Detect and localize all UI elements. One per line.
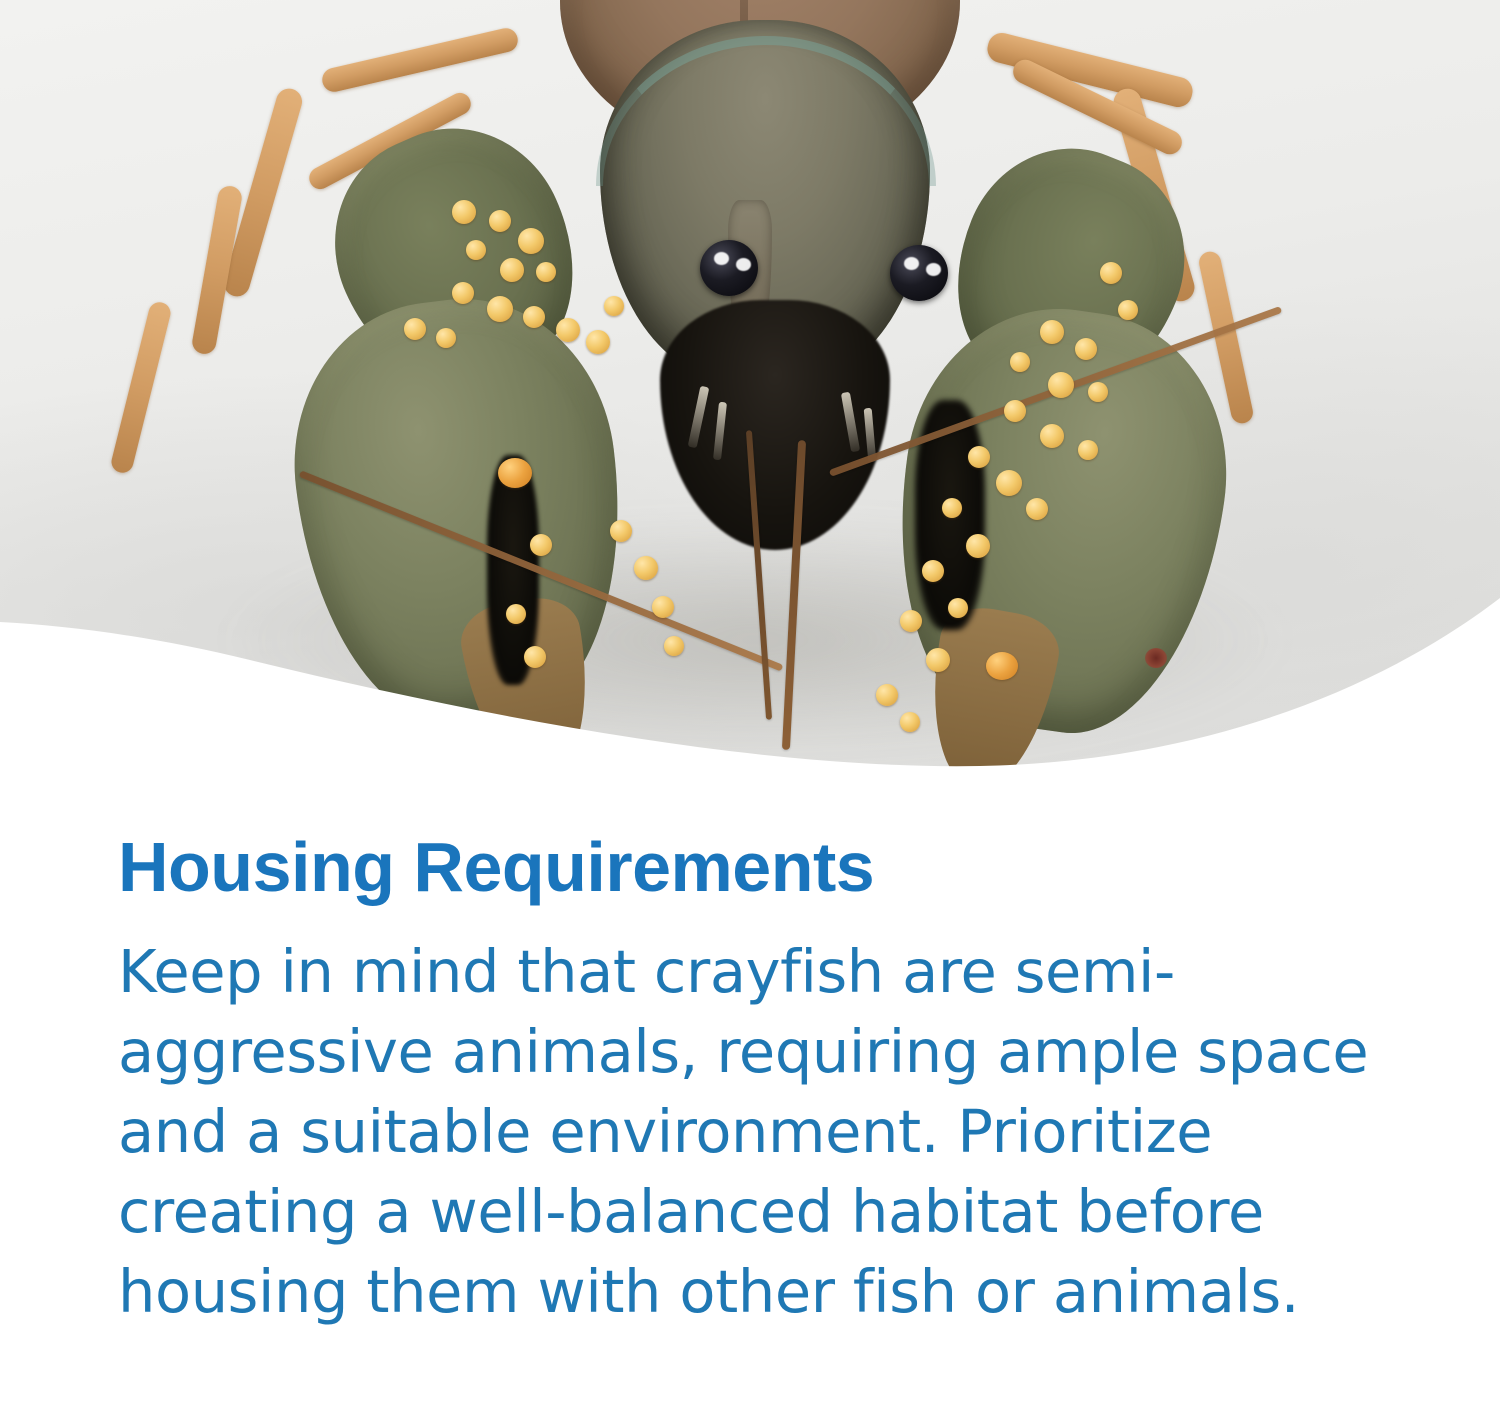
crayfish-tubercle — [1048, 372, 1074, 398]
crayfish-tubercle — [489, 210, 511, 232]
crayfish-tubercle — [634, 556, 658, 580]
crayfish-leg-left-1 — [320, 26, 520, 94]
crayfish-tubercle — [1118, 300, 1138, 320]
crayfish-tubercle — [942, 498, 962, 518]
crayfish-tubercle — [1040, 320, 1064, 344]
crayfish-tubercle — [404, 318, 426, 340]
crayfish-eye-glint — [904, 257, 919, 270]
crayfish-tubercle — [452, 200, 476, 224]
crayfish-tubercle — [664, 636, 684, 656]
crayfish-eye-glint — [736, 258, 751, 271]
body-paragraph: Keep in mind that crayfish are semi-aggr… — [0, 902, 1500, 1332]
crayfish-tubercle — [1100, 262, 1122, 284]
crayfish-leg-left-3 — [109, 300, 173, 475]
crayfish-tubercle — [986, 652, 1018, 680]
crayfish-eye-glint — [926, 263, 941, 276]
crayfish-tubercle — [610, 520, 632, 542]
content-section: Housing Requirements Keep in mind that c… — [0, 790, 1500, 1332]
crayfish-claw-spot — [1145, 648, 1167, 668]
crayfish-tubercle — [1088, 382, 1108, 402]
crayfish-tubercle — [536, 262, 556, 282]
crayfish-tubercle — [948, 598, 968, 618]
crayfish-tubercle — [524, 646, 546, 668]
crayfish-tubercle — [530, 534, 552, 556]
crayfish-tubercle — [586, 330, 610, 354]
crayfish-tubercle — [876, 684, 898, 706]
crayfish-tubercle — [1078, 440, 1098, 460]
crayfish-tubercle — [922, 560, 944, 582]
crayfish-tubercle — [1026, 498, 1048, 520]
crayfish-tubercle — [1075, 338, 1097, 360]
crayfish-eye-glint — [714, 252, 729, 265]
crayfish-tubercle — [436, 328, 456, 348]
crayfish-tubercle — [523, 306, 545, 328]
crayfish-tubercle — [500, 258, 524, 282]
crayfish-tubercle — [466, 240, 486, 260]
crayfish-tubercle — [966, 534, 990, 558]
crayfish-tubercle — [1040, 424, 1064, 448]
crayfish-tubercle — [452, 282, 474, 304]
crayfish-tubercle — [652, 596, 674, 618]
crayfish-tubercle — [506, 604, 526, 624]
crayfish-tubercle — [487, 296, 513, 322]
crayfish-tubercle — [926, 648, 950, 672]
crayfish-tubercle — [556, 318, 580, 342]
crayfish-tubercle — [604, 296, 624, 316]
crayfish-tubercle — [900, 610, 922, 632]
crayfish-tubercle — [900, 712, 920, 732]
crayfish-tubercle — [498, 458, 532, 488]
hero-image — [0, 0, 1500, 790]
crayfish-tubercle — [1010, 352, 1030, 372]
crayfish-tubercle — [968, 446, 990, 468]
crayfish-tubercle — [1004, 400, 1026, 422]
crayfish-tubercle — [996, 470, 1022, 496]
photo-backdrop — [0, 0, 1500, 790]
page-title: Housing Requirements — [0, 790, 1500, 902]
crayfish-tubercle — [518, 228, 544, 254]
